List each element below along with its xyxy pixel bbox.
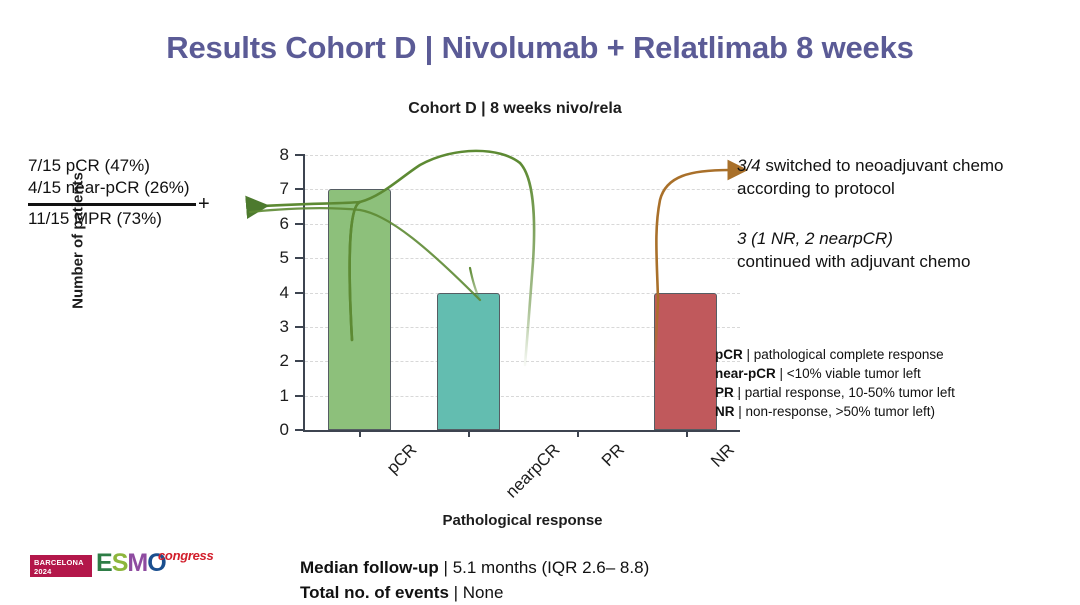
x-tick-mark (359, 430, 361, 437)
y-tick-label: 3 (259, 318, 289, 335)
esmo-congress-logo: BARCELONA 2024 ESMO congress (30, 546, 230, 586)
gridline (305, 155, 740, 156)
legend-term: PR (715, 385, 734, 400)
left-annotation-line-1: 7/15 pCR (47%) (28, 155, 243, 177)
y-tick-mark (295, 223, 303, 225)
x-axis-label: Pathological response (305, 512, 740, 529)
y-tick-label: 6 (259, 215, 289, 232)
legend-row-near-pCR: near-pCR | <10% viable tumor left (715, 364, 1025, 383)
logo-city: BARCELONA (34, 558, 92, 567)
footer-events-label: Total no. of events (300, 583, 449, 602)
annotation-adjuvant-text: continued with adjuvant chemo (737, 252, 970, 271)
y-tick-label: 7 (259, 180, 289, 197)
legend-term: NR (715, 404, 735, 419)
footer-median-value: | 5.1 months (IQR 2.6– 8.8) (439, 558, 649, 577)
footer-stats: Median follow-up | 5.1 months (IQR 2.6– … (300, 556, 900, 605)
y-tick-mark (295, 154, 303, 156)
left-annotation-line-2: 4/15 near-pCR (26%) (28, 177, 243, 199)
footer-median-followup: Median follow-up | 5.1 months (IQR 2.6– … (300, 556, 900, 581)
y-tick-mark (295, 360, 303, 362)
legend-row-pCR: pCR | pathological complete response (715, 345, 1025, 364)
y-tick-mark (295, 292, 303, 294)
bar-NR[interactable] (654, 293, 717, 431)
logo-letter-e: E (96, 549, 112, 577)
y-axis-line (303, 154, 305, 431)
y-tick-mark (295, 395, 303, 397)
footer-median-label: Median follow-up (300, 558, 439, 577)
legend-definition: | partial response, 10-50% tumor left (734, 385, 955, 400)
y-tick-mark (295, 429, 303, 431)
x-tick-mark (577, 430, 579, 437)
legend-definition: | pathological complete response (743, 347, 944, 362)
bar-nearpCR[interactable] (437, 293, 500, 431)
legend-row-PR: PR | partial response, 10-50% tumor left (715, 383, 1025, 402)
footer-events-value: | None (449, 583, 504, 602)
logo-esmo-wordmark: ESMO (96, 551, 166, 576)
legend-row-NR: NR | non-response, >50% tumor left) (715, 402, 1025, 421)
chart-title: Cohort D | 8 weeks nivo/rela (280, 100, 750, 118)
x-tick-label-PR: PR (598, 440, 629, 471)
annotation-adjuvant-chemo: 3 (1 NR, 2 nearpCR) continued with adjuv… (737, 228, 1027, 274)
x-tick-label-pCR: pCR (383, 440, 421, 478)
slide-canvas: Results Cohort D | Nivolumab + Relatlima… (0, 0, 1080, 600)
chart-plot-area (305, 155, 740, 430)
logo-letter-m: M (127, 549, 147, 577)
legend-definition: | <10% viable tumor left (776, 366, 921, 381)
left-annotation: 7/15 pCR (47%) 4/15 near-pCR (26%) + 11/… (28, 155, 243, 230)
x-tick-mark (686, 430, 688, 437)
footer-total-events: Total no. of events | None (300, 581, 900, 605)
y-tick-mark (295, 257, 303, 259)
x-axis-line (303, 430, 740, 432)
annotation-switched-chemo: 3/4 switched to neoadjuvant chemo accord… (737, 155, 1027, 201)
logo-city-badge: BARCELONA 2024 (30, 555, 92, 577)
annotation-switched-text: switched to neoadjuvant chemo according … (737, 156, 1004, 198)
logo-congress-word: congress (158, 548, 213, 563)
annotation-switched-emphasis: 3/4 (737, 156, 761, 175)
y-tick-label: 2 (259, 352, 289, 369)
x-tick-mark (468, 430, 470, 437)
y-tick-label: 0 (259, 421, 289, 438)
x-tick-label-nearpCR: nearpCR (502, 440, 564, 502)
annotation-adjuvant-emphasis: 3 (1 NR, 2 nearpCR) (737, 229, 893, 248)
y-tick-label: 4 (259, 284, 289, 301)
page-title: Results Cohort D | Nivolumab + Relatlima… (0, 30, 1080, 66)
left-annotation-line-3: 11/15 MPR (73%) (28, 208, 243, 230)
x-tick-label-NR: NR (707, 440, 739, 472)
legend-term: pCR (715, 347, 743, 362)
bar-pCR[interactable] (328, 189, 391, 430)
plus-sign: + (198, 191, 210, 217)
y-tick-label: 1 (259, 387, 289, 404)
legend-term: near-pCR (715, 366, 776, 381)
logo-year: 2024 (34, 567, 92, 576)
y-tick-label: 8 (259, 146, 289, 163)
y-tick-label: 5 (259, 249, 289, 266)
y-tick-mark (295, 188, 303, 190)
response-definitions-legend: pCR | pathological complete responsenear… (715, 345, 1025, 422)
logo-letter-s: S (112, 549, 128, 577)
y-tick-mark (295, 326, 303, 328)
fraction-rule: + (28, 203, 196, 206)
legend-definition: | non-response, >50% tumor left) (735, 404, 935, 419)
